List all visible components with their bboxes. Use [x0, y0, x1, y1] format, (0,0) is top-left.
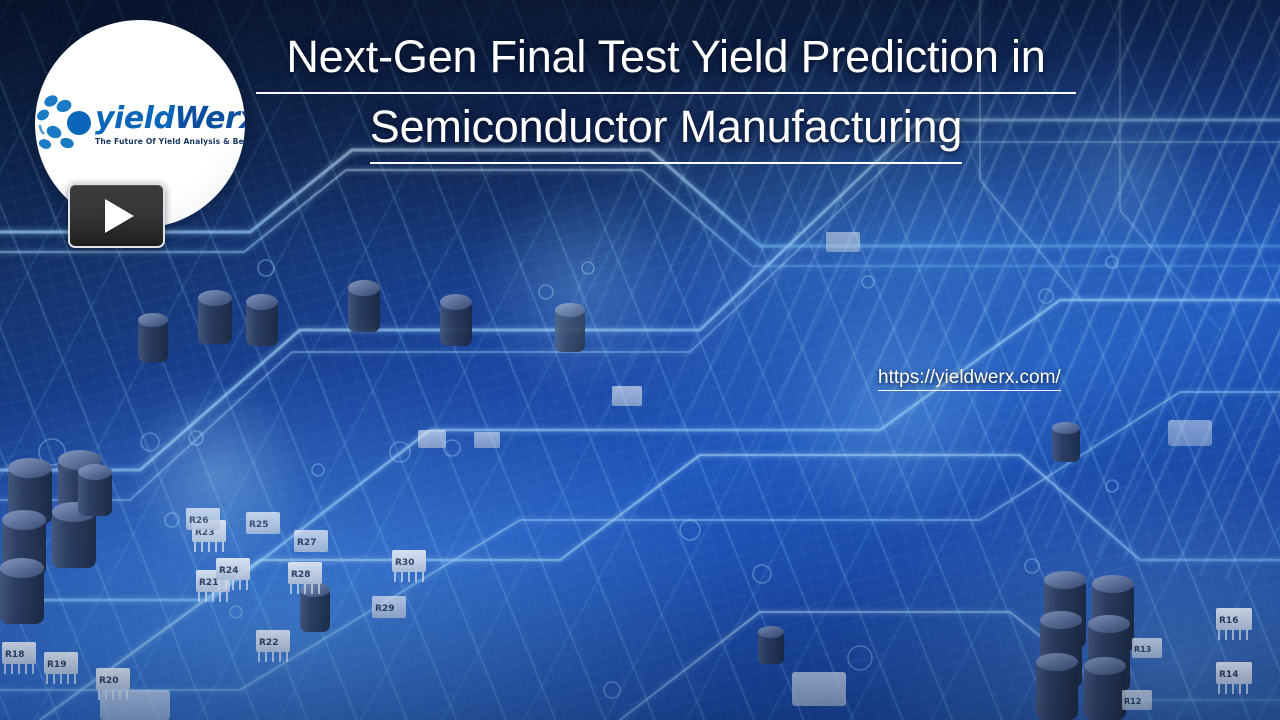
website-url-link[interactable]: https://yieldwerx.com/ [878, 367, 1061, 391]
presentation-slide: R21 R18 R19 R20 R22 R30 R23 R24 [0, 0, 1280, 720]
play-video-button[interactable] [68, 183, 165, 248]
title-line-1: Next-Gen Final Test Yield Prediction in [256, 24, 1076, 94]
title-line-1-text: Next-Gen Final Test Yield Prediction in [256, 24, 1076, 94]
logo-wordmark: yieldWerx™ [95, 104, 245, 134]
logo-tagline: The Future Of Yield Analysis & Beyond... [95, 137, 245, 146]
logo-word-lower: yield [95, 101, 174, 136]
play-triangle-icon [105, 199, 134, 233]
title-line-2: Semiconductor Manufacturing [256, 94, 1076, 164]
dots-cluster-icon [37, 89, 93, 159]
logo-word-upper: Werx [174, 101, 245, 136]
title-line-2-text: Semiconductor Manufacturing [370, 94, 962, 164]
slide-title: Next-Gen Final Test Yield Prediction in … [256, 24, 1076, 164]
